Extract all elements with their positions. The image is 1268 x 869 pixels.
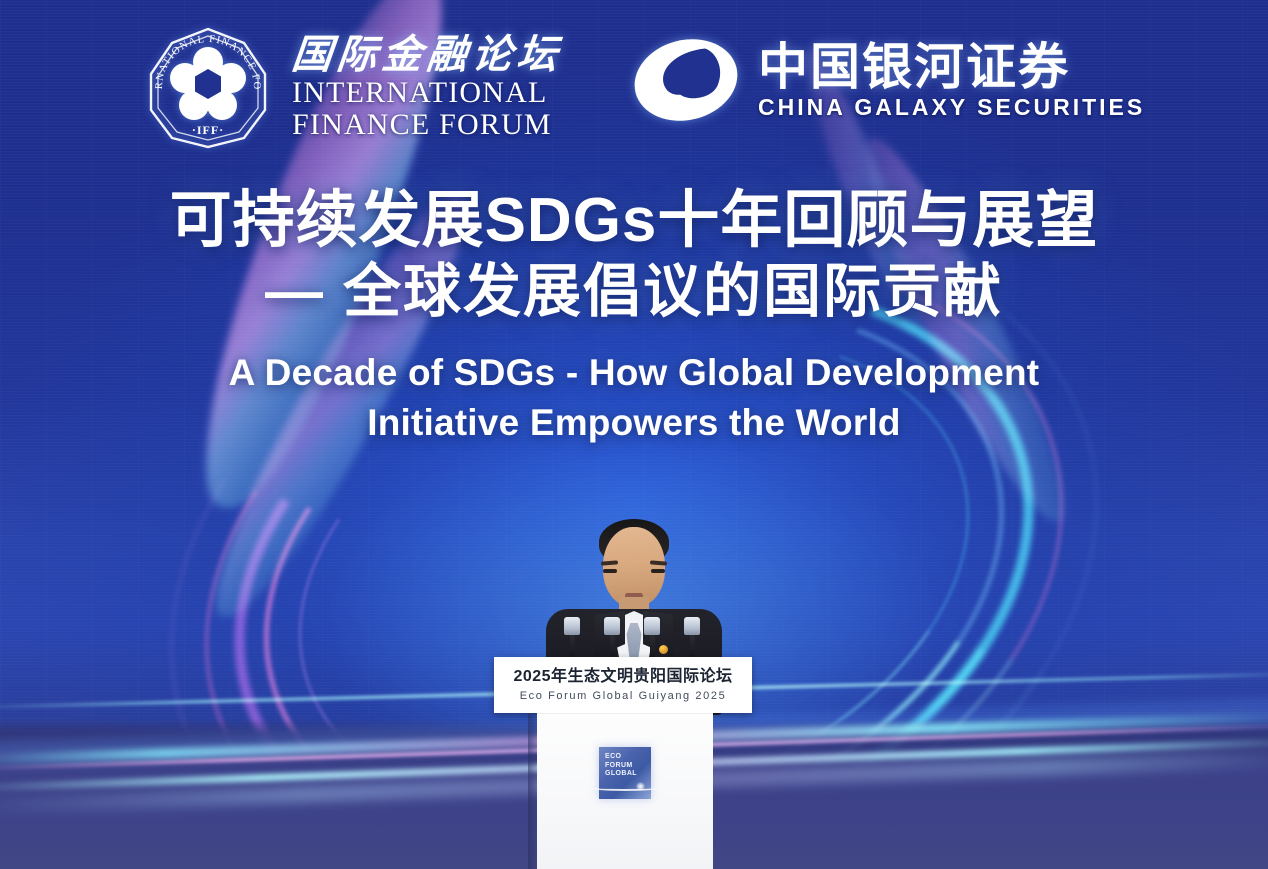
galaxy-english-name: CHINA GALAXY SECURITIES — [758, 96, 1145, 119]
microphone-3 — [644, 617, 660, 657]
efg-line-2: FORUM — [605, 762, 637, 771]
iff-english-line2: FINANCE FORUM — [292, 109, 562, 141]
galaxy-chinese-name: 中国银河证券 — [758, 42, 1145, 92]
title-chinese-line2: — 全球发展倡议的国际贡献 — [0, 261, 1268, 324]
efg-line-3: GLOBAL — [605, 770, 637, 779]
iff-english-line1: INTERNATIONAL — [292, 77, 562, 109]
microphone-cluster — [564, 615, 704, 657]
speaker-eye-left — [603, 569, 617, 573]
iff-logo: INTERNATIONAL FINANCE FORUM ·IFF· — [146, 26, 562, 150]
podium-sign: 2025年生态文明贵阳国际论坛 Eco Forum Global Guiyang… — [494, 657, 752, 713]
podium-front-panel: ECO FORUM GLOBAL — [537, 713, 713, 869]
iff-chinese-calligraphy: 国际金融论坛 — [290, 35, 564, 75]
microphone-4 — [684, 617, 700, 657]
title-english-line2: Initiative Empowers the World — [0, 398, 1268, 448]
galaxy-wordmark: 中国银河证券 CHINA GALAXY SECURITIES — [758, 42, 1145, 119]
podium-sign-english: Eco Forum Global Guiyang 2025 — [520, 690, 727, 702]
speaker-eye-right — [651, 569, 665, 573]
efg-line-1: ECO — [605, 753, 637, 762]
sponsor-logo-row: INTERNATIONAL FINANCE FORUM ·IFF· — [0, 14, 1268, 154]
china-galaxy-securities-logo: 中国银河证券 CHINA GALAXY SECURITIES — [630, 34, 1145, 126]
iff-seal-icon: INTERNATIONAL FINANCE FORUM ·IFF· — [146, 26, 270, 150]
title-english-line1: A Decade of SDGs - How Global Developmen… — [0, 348, 1268, 398]
microphone-1 — [564, 617, 580, 657]
microphone-2 — [604, 617, 620, 657]
galaxy-swirl-icon — [630, 34, 742, 126]
title-chinese-line1: 可持续发展SDGs十年回顾与展望 — [0, 188, 1268, 255]
event-title-block: 可持续发展SDGs十年回顾与展望 — 全球发展倡议的国际贡献 A Decade … — [0, 188, 1268, 447]
svg-text:·IFF·: ·IFF· — [192, 123, 224, 137]
podium-sign-chinese: 2025年生态文明贵阳国际论坛 — [513, 668, 732, 686]
efg-swoosh — [591, 785, 659, 791]
eco-forum-global-logo-icon: ECO FORUM GLOBAL — [599, 747, 651, 799]
iff-wordmark: 国际金融论坛 INTERNATIONAL FINANCE FORUM — [292, 35, 562, 141]
stage-scene: INTERNATIONAL FINANCE FORUM ·IFF· — [0, 0, 1268, 869]
eco-forum-global-logo-text: ECO FORUM GLOBAL — [605, 753, 637, 779]
